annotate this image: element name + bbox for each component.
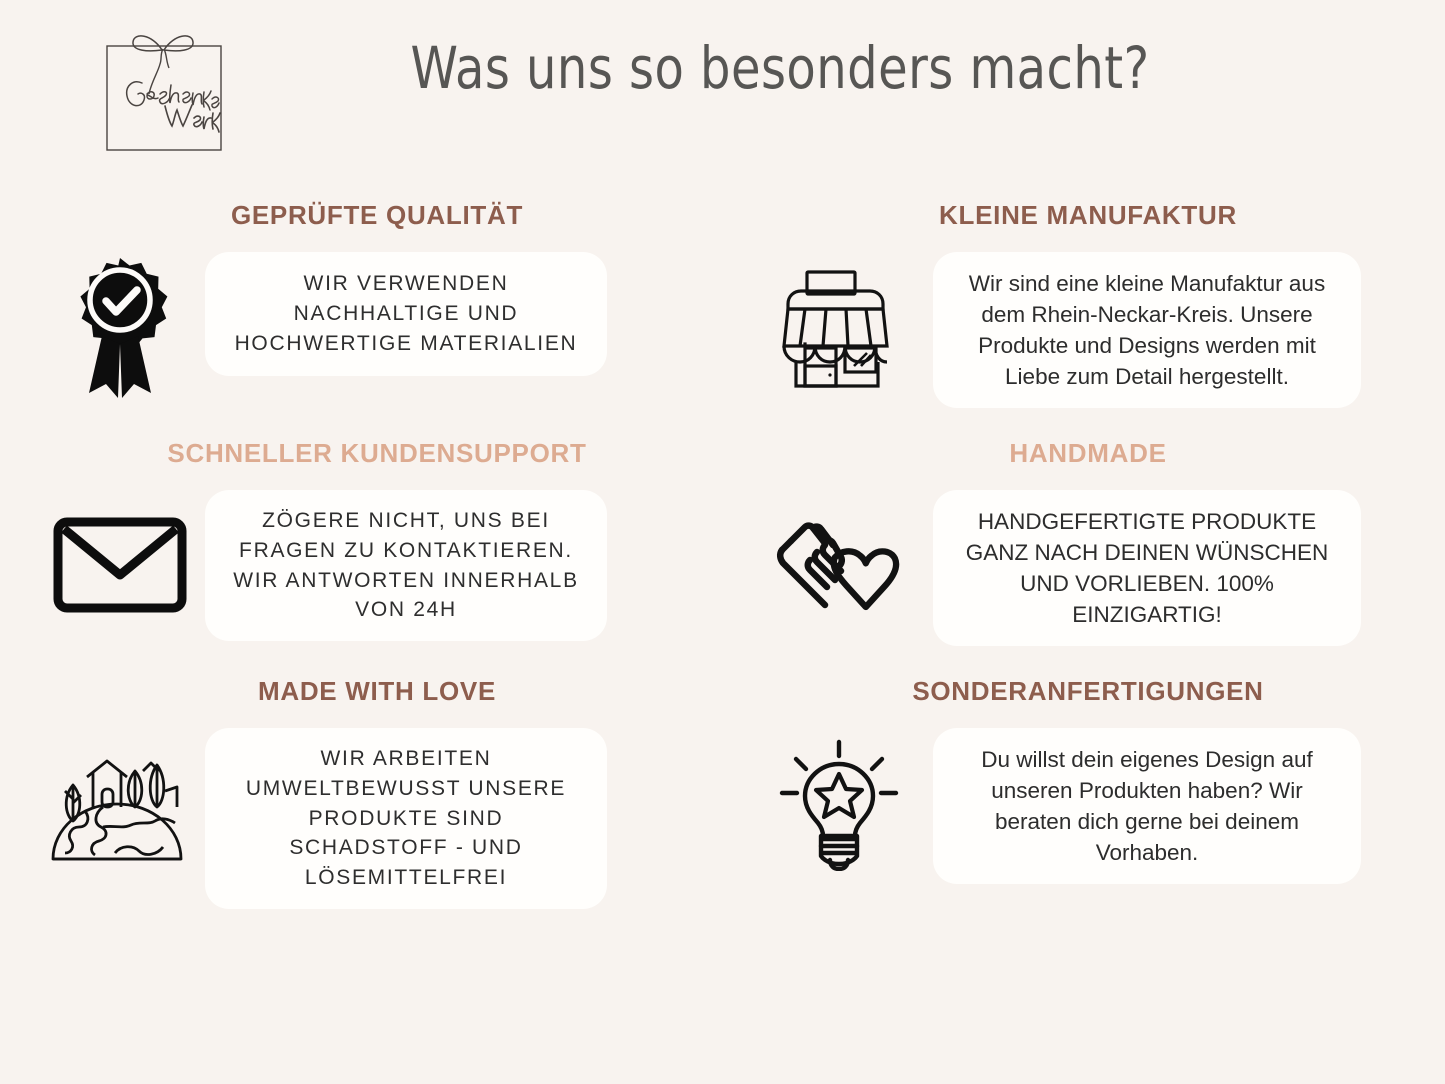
feature-title: KLEINE MANUFAKTUR bbox=[745, 200, 1405, 231]
feature-title: SCHNELLER KUNDENSUPPORT bbox=[35, 438, 695, 469]
feature-body: HANDGEFERTIGTE PRODUKTE GANZ NACH DEINEN… bbox=[745, 490, 1405, 646]
earth-nature-icon bbox=[35, 728, 205, 878]
feature-handmade: HANDMADE HANDGEFE bbox=[745, 438, 1405, 676]
feature-card: WIR VERWENDEN NACHHALTIGE UND HOCHWERTIG… bbox=[205, 252, 607, 376]
lightbulb-star-icon bbox=[745, 728, 933, 878]
feature-card: HANDGEFERTIGTE PRODUKTE GANZ NACH DEINEN… bbox=[933, 490, 1361, 646]
features-row-3: MADE WITH LOVE bbox=[0, 676, 1445, 914]
feature-card: WIR ARBEITEN UMWELTBEWUSST UNSERE PRODUK… bbox=[205, 728, 607, 909]
feature-title: MADE WITH LOVE bbox=[35, 676, 695, 707]
feature-body: Du willst dein eigenes Design auf unsere… bbox=[745, 728, 1405, 884]
feature-title: GEPRÜFTE QUALITÄT bbox=[35, 200, 695, 231]
page-header: Was uns so besonders macht? bbox=[0, 0, 1445, 175]
page-title: Was uns so besonders macht? bbox=[302, 34, 1259, 102]
features-row-1: GEPRÜFTE QUALITÄT WIR VERWENDEN NACHHALT… bbox=[0, 200, 1445, 438]
feature-body: ZÖGERE NICHT, UNS BEI FRAGEN ZU KONTAKTI… bbox=[35, 490, 695, 641]
feature-body: Wir sind eine kleine Manufaktur aus dem … bbox=[745, 252, 1405, 408]
feature-schneller-kundensupport: SCHNELLER KUNDENSUPPORT ZÖGERE NICHT, UN… bbox=[35, 438, 695, 676]
geschenke-werk-logo bbox=[100, 28, 228, 156]
storefront-icon bbox=[745, 252, 933, 402]
feature-gepruefte-qualitaet: GEPRÜFTE QUALITÄT WIR VERWENDEN NACHHALT… bbox=[35, 200, 695, 438]
feature-card: ZÖGERE NICHT, UNS BEI FRAGEN ZU KONTAKTI… bbox=[205, 490, 607, 641]
feature-card: Du willst dein eigenes Design auf unsere… bbox=[933, 728, 1361, 884]
feature-made-with-love: MADE WITH LOVE bbox=[35, 676, 695, 914]
feature-sonderanfertigungen: SONDERANFERTIGUNGEN bbox=[745, 676, 1405, 914]
feature-kleine-manufaktur: KLEINE MANUFAKTUR bbox=[745, 200, 1405, 438]
award-badge-icon bbox=[35, 252, 205, 402]
feature-card: Wir sind eine kleine Manufaktur aus dem … bbox=[933, 252, 1361, 408]
feature-body: WIR VERWENDEN NACHHALTIGE UND HOCHWERTIG… bbox=[35, 252, 695, 402]
features-row-2: SCHNELLER KUNDENSUPPORT ZÖGERE NICHT, UN… bbox=[0, 438, 1445, 676]
hand-heart-icon bbox=[745, 490, 933, 640]
feature-title: HANDMADE bbox=[745, 438, 1405, 469]
features-grid: GEPRÜFTE QUALITÄT WIR VERWENDEN NACHHALT… bbox=[0, 200, 1445, 914]
feature-title: SONDERANFERTIGUNGEN bbox=[745, 676, 1405, 707]
feature-body: WIR ARBEITEN UMWELTBEWUSST UNSERE PRODUK… bbox=[35, 728, 695, 909]
envelope-icon bbox=[35, 490, 205, 640]
